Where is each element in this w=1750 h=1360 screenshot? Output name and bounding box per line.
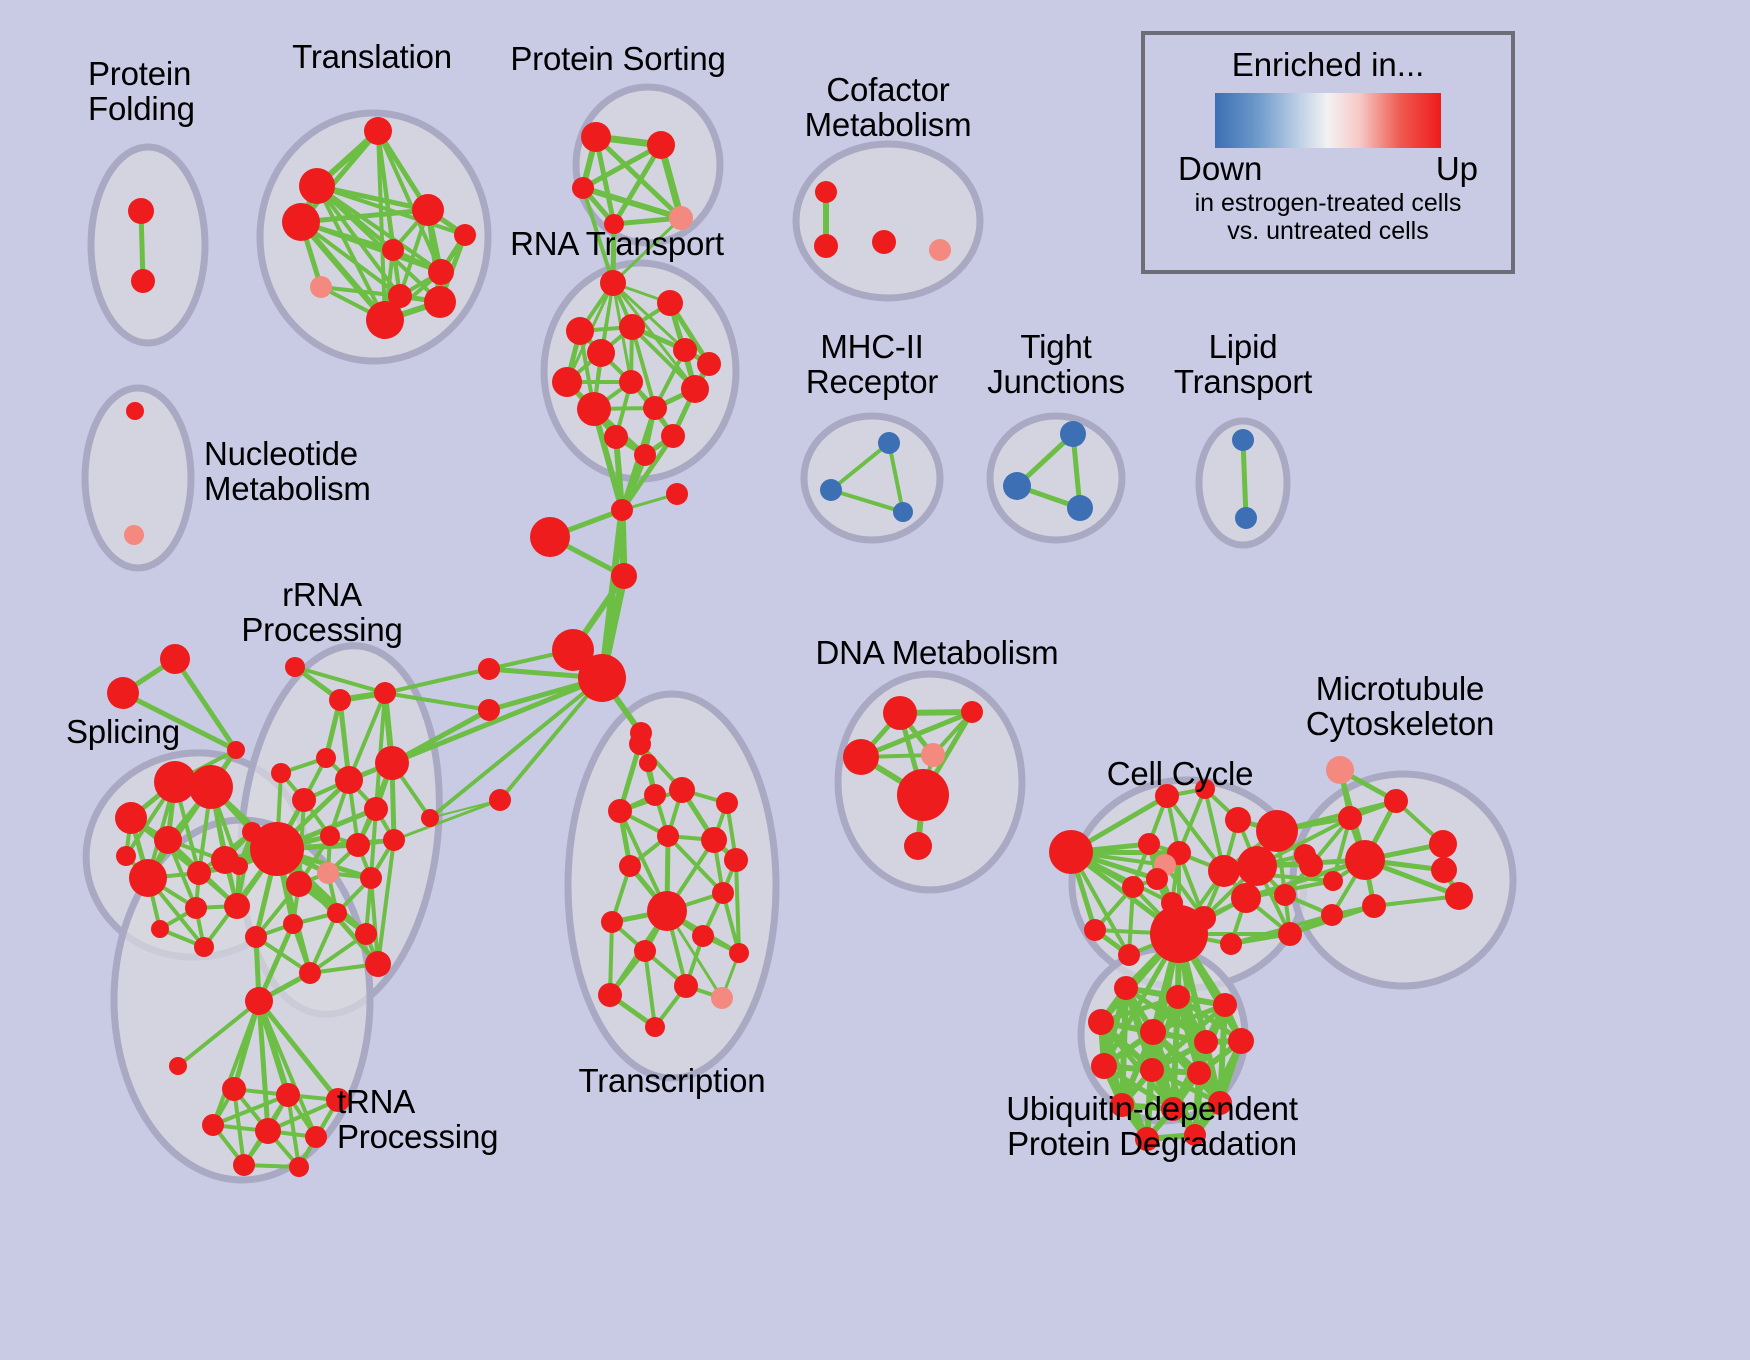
cluster-label-dna-metabolism: DNA Metabolism — [816, 636, 1059, 671]
network-node[interactable] — [412, 194, 444, 226]
network-node[interactable] — [878, 432, 900, 454]
network-node[interactable] — [292, 788, 316, 812]
network-node[interactable] — [428, 259, 454, 285]
network-node[interactable] — [1049, 830, 1093, 874]
legend-low-label: Down — [1178, 152, 1262, 187]
network-node[interactable] — [222, 1077, 246, 1101]
network-node[interactable] — [421, 809, 439, 827]
network-node[interactable] — [611, 499, 633, 521]
network-node[interactable] — [1091, 1053, 1117, 1079]
network-node[interactable] — [647, 131, 675, 159]
legend-high-label: Up — [1436, 152, 1478, 187]
network-node[interactable] — [299, 962, 321, 984]
network-node[interactable] — [316, 748, 336, 768]
network-node[interactable] — [129, 859, 167, 897]
network-node[interactable] — [276, 1083, 300, 1107]
network-node[interactable] — [1225, 807, 1251, 833]
network-node[interactable] — [1146, 868, 1168, 890]
network-edge[interactable] — [1243, 440, 1246, 518]
network-node[interactable] — [327, 903, 347, 923]
network-node[interactable] — [1321, 904, 1343, 926]
network-node[interactable] — [374, 682, 396, 704]
network-node[interactable] — [454, 224, 476, 246]
network-node[interactable] — [577, 392, 611, 426]
network-node[interactable] — [1235, 507, 1257, 529]
network-node[interactable] — [843, 739, 879, 775]
network-node[interactable] — [1003, 472, 1031, 500]
network-node[interactable] — [711, 987, 733, 1009]
network-node[interactable] — [169, 1057, 187, 1075]
cluster-label-protein-sorting: Protein Sorting — [510, 42, 725, 77]
network-node[interactable] — [320, 826, 340, 846]
network-node[interactable] — [160, 644, 190, 674]
network-node[interactable] — [692, 925, 714, 947]
network-node[interactable] — [478, 658, 500, 680]
network-node[interactable] — [604, 425, 628, 449]
cluster-label-cofactor-metabolism: Cofactor Metabolism — [805, 73, 972, 143]
network-node[interactable] — [1231, 883, 1261, 913]
network-node[interactable] — [921, 743, 945, 767]
network-node[interactable] — [151, 920, 169, 938]
network-node[interactable] — [729, 943, 749, 963]
network-node[interactable] — [1138, 833, 1160, 855]
network-node[interactable] — [1118, 944, 1140, 966]
network-node[interactable] — [227, 741, 245, 759]
network-node[interactable] — [697, 352, 721, 376]
cluster-label-mhc-ii-receptor: MHC-II Receptor — [806, 330, 938, 400]
network-node[interactable] — [815, 181, 837, 203]
network-node[interactable] — [647, 891, 687, 931]
network-node[interactable] — [611, 563, 637, 589]
network-node[interactable] — [1326, 756, 1354, 784]
network-node[interactable] — [681, 375, 709, 403]
network-node[interactable] — [566, 317, 594, 345]
network-node[interactable] — [601, 911, 623, 933]
network-node[interactable] — [124, 525, 144, 545]
cluster-hull-mhc-ii-receptor[interactable] — [804, 416, 940, 540]
network-node[interactable] — [305, 1126, 327, 1148]
network-node[interactable] — [126, 402, 144, 420]
cluster-label-nucleotide-metabolism: Nucleotide Metabolism — [204, 437, 371, 507]
network-node[interactable] — [904, 832, 932, 860]
network-node[interactable] — [1338, 806, 1362, 830]
network-node[interactable] — [364, 797, 388, 821]
cluster-label-ubiquitin-protein-degradation: Ubiquitin-dependent Protein Degradation — [1006, 1092, 1298, 1162]
network-node[interactable] — [712, 882, 734, 904]
network-node[interactable] — [282, 203, 320, 241]
network-node[interactable] — [1294, 844, 1316, 866]
network-node[interactable] — [1384, 789, 1408, 813]
legend-title: Enriched in... — [1145, 48, 1511, 81]
network-node[interactable] — [299, 168, 335, 204]
network-node[interactable] — [1194, 1030, 1218, 1054]
network-node[interactable] — [578, 654, 626, 702]
network-node[interactable] — [724, 848, 748, 872]
network-node[interactable] — [1166, 985, 1190, 1009]
network-node[interactable] — [365, 951, 391, 977]
cluster-hull-transcription[interactable] — [568, 694, 776, 1078]
network-node[interactable] — [1114, 976, 1138, 1000]
network-node[interactable] — [255, 1118, 281, 1144]
network-node[interactable] — [1088, 1009, 1114, 1035]
network-node[interactable] — [271, 763, 291, 783]
network-node[interactable] — [1237, 846, 1277, 886]
network-node[interactable] — [107, 677, 139, 709]
network-node[interactable] — [820, 479, 842, 501]
network-node[interactable] — [716, 792, 738, 814]
network-node[interactable] — [1232, 429, 1254, 451]
network-node[interactable] — [666, 483, 688, 505]
network-node[interactable] — [587, 339, 615, 367]
network-node[interactable] — [194, 937, 214, 957]
network-node[interactable] — [1140, 1019, 1166, 1045]
network-node[interactable] — [1362, 894, 1386, 918]
network-node[interactable] — [1445, 882, 1473, 910]
network-node[interactable] — [211, 846, 239, 874]
network-node[interactable] — [619, 855, 641, 877]
cluster-label-rna-transport: RNA Transport — [510, 227, 724, 262]
network-node[interactable] — [669, 777, 695, 803]
network-node[interactable] — [643, 396, 667, 420]
network-node[interactable] — [154, 826, 182, 854]
network-node[interactable] — [366, 301, 404, 339]
network-node[interactable] — [961, 701, 983, 723]
network-node[interactable] — [185, 897, 207, 919]
network-node[interactable] — [893, 502, 913, 522]
network-node[interactable] — [478, 699, 500, 721]
legend-subtitle: in estrogen-treated cells vs. untreated … — [1145, 189, 1511, 245]
network-node[interactable] — [674, 974, 698, 998]
cluster-label-splicing: Splicing — [66, 715, 180, 750]
network-node[interactable] — [1256, 810, 1298, 852]
cluster-label-microtubule-cytoskeleton: Microtubule Cytoskeleton — [1306, 672, 1494, 742]
network-node[interactable] — [375, 746, 409, 780]
enrichment-map-figure: Protein FoldingTranslationProtein Sortin… — [0, 0, 1750, 1360]
network-node[interactable] — [639, 754, 657, 772]
network-node[interactable] — [701, 827, 727, 853]
network-node[interactable] — [250, 822, 304, 876]
network-node[interactable] — [355, 923, 377, 945]
legend-subtitle-line1: in estrogen-treated cells — [1145, 189, 1511, 217]
network-node[interactable] — [1122, 876, 1144, 898]
network-node[interactable] — [673, 338, 697, 362]
network-node[interactable] — [202, 1114, 224, 1136]
cluster-label-tight-junctions: Tight Junctions — [987, 330, 1125, 400]
network-node[interactable] — [383, 829, 405, 851]
network-node[interactable] — [1067, 495, 1093, 521]
network-node[interactable] — [364, 117, 392, 145]
cluster-label-cell-cycle: Cell Cycle — [1107, 757, 1254, 792]
legend-panel: Enriched in... Down Up in estrogen-treat… — [1141, 31, 1515, 274]
network-node[interactable] — [335, 766, 363, 794]
network-node[interactable] — [245, 987, 273, 1015]
cluster-label-trna-processing: tRNA Processing — [337, 1085, 498, 1155]
network-node[interactable] — [1274, 884, 1296, 906]
cluster-label-lipid-transport: Lipid Transport — [1174, 330, 1312, 400]
network-node[interactable] — [657, 290, 683, 316]
network-node[interactable] — [1278, 922, 1302, 946]
network-node[interactable] — [1213, 993, 1237, 1017]
network-node[interactable] — [883, 696, 917, 730]
network-node[interactable] — [634, 940, 656, 962]
network-node[interactable] — [629, 733, 651, 755]
network-node[interactable] — [346, 833, 370, 857]
network-node[interactable] — [245, 926, 267, 948]
network-node[interactable] — [1187, 1061, 1211, 1085]
network-node[interactable] — [424, 286, 456, 318]
network-node[interactable] — [317, 862, 339, 884]
network-node[interactable] — [897, 769, 949, 821]
network-node[interactable] — [1228, 1028, 1254, 1054]
network-node[interactable] — [489, 789, 511, 811]
network-node[interactable] — [224, 893, 250, 919]
network-node[interactable] — [131, 269, 155, 293]
network-node[interactable] — [634, 444, 656, 466]
network-node[interactable] — [608, 799, 632, 823]
network-node[interactable] — [1323, 871, 1343, 891]
network-node[interactable] — [187, 861, 211, 885]
network-node[interactable] — [283, 914, 303, 934]
network-node[interactable] — [619, 314, 645, 340]
network-node[interactable] — [572, 177, 594, 199]
network-node[interactable] — [310, 276, 332, 298]
cluster-label-rrna-processing: rRNA Processing — [241, 578, 402, 648]
cluster-hull-protein-folding[interactable] — [91, 147, 205, 343]
network-node[interactable] — [644, 784, 666, 806]
network-node[interactable] — [619, 370, 643, 394]
network-node[interactable] — [1208, 855, 1240, 887]
network-node[interactable] — [661, 424, 685, 448]
legend-subtitle-line2: vs. untreated cells — [1145, 217, 1511, 245]
network-node[interactable] — [581, 122, 611, 152]
network-node[interactable] — [289, 1157, 309, 1177]
network-node[interactable] — [1431, 857, 1457, 883]
network-node[interactable] — [1140, 1058, 1164, 1082]
network-node[interactable] — [657, 825, 679, 847]
network-node[interactable] — [552, 367, 582, 397]
network-node[interactable] — [1084, 919, 1106, 941]
network-node[interactable] — [814, 234, 838, 258]
network-node[interactable] — [1150, 905, 1208, 963]
network-node[interactable] — [645, 1017, 665, 1037]
network-node[interactable] — [382, 239, 404, 261]
network-node[interactable] — [115, 802, 147, 834]
cluster-label-transcription: Transcription — [579, 1064, 766, 1099]
network-node[interactable] — [929, 239, 951, 261]
network-node[interactable] — [285, 657, 305, 677]
network-node[interactable] — [1060, 421, 1086, 447]
network-node[interactable] — [286, 871, 312, 897]
network-node[interactable] — [116, 846, 136, 866]
network-node[interactable] — [360, 867, 382, 889]
network-node[interactable] — [600, 270, 626, 296]
network-node[interactable] — [1345, 840, 1385, 880]
network-node[interactable] — [189, 765, 233, 809]
network-node[interactable] — [1429, 830, 1457, 858]
cluster-label-translation: Translation — [292, 40, 452, 75]
network-node[interactable] — [128, 198, 154, 224]
network-node[interactable] — [872, 230, 896, 254]
network-node[interactable] — [598, 983, 622, 1007]
legend-colorbar — [1215, 93, 1441, 148]
network-node[interactable] — [1220, 933, 1242, 955]
cluster-label-protein-folding: Protein Folding — [88, 57, 195, 127]
network-node[interactable] — [329, 689, 351, 711]
network-node[interactable] — [233, 1154, 255, 1176]
network-node[interactable] — [530, 517, 570, 557]
